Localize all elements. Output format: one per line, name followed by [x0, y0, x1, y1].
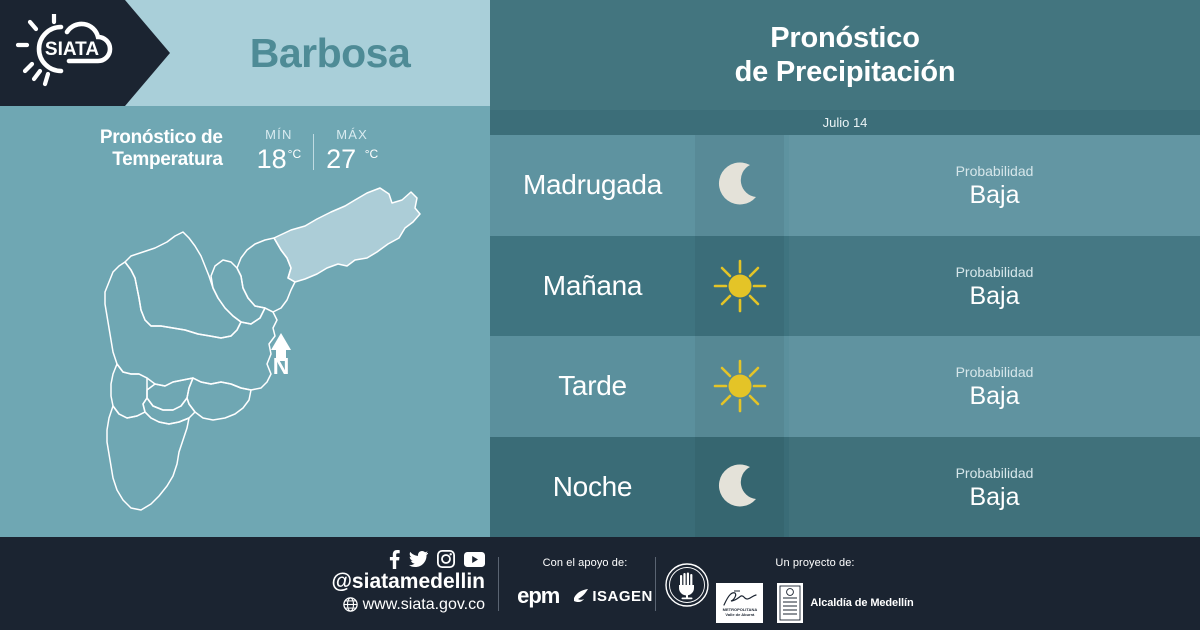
isagen-logo[interactable]: ISAGEN	[573, 588, 653, 605]
weather-icon-cell	[695, 135, 784, 236]
support-logos: epm ISAGEN	[505, 583, 665, 609]
isagen-mark-icon	[573, 589, 589, 604]
min-label: MÍN	[257, 125, 302, 145]
min-value-wrap: 18°C	[257, 145, 302, 173]
forecast-title-line2: de Precipitación	[735, 55, 956, 89]
map-region-bello	[125, 232, 241, 338]
footer-divider-2	[655, 557, 656, 611]
alcaldia-label: Alcaldía de Medellín	[810, 597, 913, 609]
forecast-header: Pronóstico de Precipitación	[490, 0, 1200, 110]
probability-value: Baja	[956, 182, 1034, 210]
area-logo-line2: Valle de Aburrá	[725, 612, 754, 617]
compass-label: N	[273, 353, 290, 379]
social-handle[interactable]: @siatamedellin	[300, 570, 485, 594]
forecast-date-label: Julio 14	[823, 115, 868, 130]
forecast-row-madrugada[interactable]: Madrugada Probabilidad Baja	[490, 135, 1200, 236]
probability-value: Baja	[956, 383, 1034, 411]
sun-icon	[712, 358, 768, 414]
probability-caption: Probabilidad	[956, 362, 1034, 383]
temperature-max: MÁX 27 °C	[314, 125, 390, 173]
sun-cloud-icon: SIATA	[14, 14, 124, 92]
max-value-wrap: 27 °C	[326, 145, 378, 173]
temperature-title-line2: Temperatura	[100, 149, 223, 171]
map-region-envigado	[187, 378, 251, 420]
precipitation-panel: Pronóstico de Precipitación Julio 14 Mad…	[490, 0, 1200, 537]
forecast-title-line1: Pronóstico	[735, 21, 956, 55]
probability-caption: Probabilidad	[956, 161, 1034, 182]
medellin-seal-icon[interactable]	[665, 563, 709, 607]
probability-value: Baja	[956, 484, 1034, 512]
forecast-row-tarde[interactable]: Tarde	[490, 336, 1200, 437]
period-label: Tarde	[558, 370, 627, 402]
period-label: Madrugada	[523, 169, 662, 201]
page-title: Barbosa	[170, 0, 490, 106]
facebook-icon[interactable]	[389, 550, 400, 569]
weather-icon-cell	[695, 236, 784, 337]
probability-caption: Probabilidad	[956, 262, 1034, 283]
forecast-rows: Madrugada Probabilidad Baja	[490, 135, 1200, 537]
siata-logo-wedge[interactable]: SIATA	[0, 0, 170, 106]
weather-icon-cell	[695, 336, 784, 437]
temperature-values: MÍN 18°C MÁX 27 °C	[245, 125, 391, 173]
period-cell: Mañana	[490, 236, 695, 337]
probability-value: Baja	[956, 283, 1034, 311]
compass-north: N	[271, 333, 291, 379]
weather-icon-cell	[695, 437, 784, 538]
map-panel: Pronóstico de Temperatura MÍN 18°C MÁX 2…	[0, 106, 490, 537]
period-label: Mañana	[543, 270, 642, 302]
probability-cell: Probabilidad Baja	[789, 236, 1200, 337]
probability-cell: Probabilidad Baja	[789, 336, 1200, 437]
project-logos: METROPOLITANA Valle de Aburrá Alcaldía d…	[700, 583, 930, 623]
left-panel: SIATA Barbosa Pronóstico de Temperatura …	[0, 0, 490, 537]
support-block: Con el apoyo de: epm ISAGEN	[505, 557, 665, 609]
alcaldia-shield-icon	[777, 583, 803, 623]
footer: @siatamedellin www.siata.gov.co Con el a…	[0, 537, 1200, 630]
youtube-icon[interactable]	[464, 552, 485, 567]
moon-icon	[712, 157, 768, 213]
max-value: 27	[326, 144, 356, 174]
map-region-copacabana	[211, 260, 265, 324]
social-icons	[300, 549, 485, 569]
alcaldia-logo-group[interactable]: Alcaldía de Medellín	[777, 583, 913, 623]
forecast-date: Julio 14	[490, 110, 1200, 135]
max-unit: °C	[365, 147, 378, 161]
period-cell: Madrugada	[490, 135, 695, 236]
max-label: MÁX	[326, 125, 378, 145]
map-region-sabaneta	[143, 398, 195, 424]
probability-caption: Probabilidad	[956, 463, 1034, 484]
sun-icon	[712, 258, 768, 314]
area-script-icon	[722, 590, 758, 607]
isagen-label: ISAGEN	[592, 588, 653, 605]
period-cell: Noche	[490, 437, 695, 538]
probability-cell: Probabilidad Baja	[789, 135, 1200, 236]
website-label: www.siata.gov.co	[363, 595, 485, 614]
min-value: 18	[257, 144, 287, 174]
project-caption: Un proyecto de:	[700, 557, 930, 569]
temperature-divider	[313, 134, 314, 170]
forecast-title: Pronóstico de Precipitación	[735, 21, 956, 89]
city-header: SIATA Barbosa	[0, 0, 490, 106]
probability-cell: Probabilidad Baja	[789, 437, 1200, 538]
siata-logo-text: SIATA	[45, 39, 99, 60]
map-region-medellin	[105, 262, 277, 390]
area-metropolitana-logo[interactable]: METROPOLITANA Valle de Aburrá	[716, 583, 763, 623]
temperature-block: Pronóstico de Temperatura MÍN 18°C MÁX 2…	[0, 118, 490, 180]
globe-icon	[343, 597, 358, 612]
probability-box: Probabilidad Baja	[956, 262, 1034, 311]
valle-de-aburra-map[interactable]: N	[55, 178, 455, 530]
map-region-barbosa	[274, 188, 420, 282]
min-unit: °C	[288, 147, 301, 161]
instagram-icon[interactable]	[437, 550, 455, 568]
temperature-title: Pronóstico de Temperatura	[100, 127, 223, 171]
moon-icon	[712, 459, 768, 515]
forecast-row-noche[interactable]: Noche Probabilidad Baja	[490, 437, 1200, 538]
website-row[interactable]: www.siata.gov.co	[300, 595, 485, 614]
epm-logo[interactable]: epm	[517, 583, 559, 609]
forecast-row-manana[interactable]: Mañana	[490, 236, 1200, 337]
map-region-caldas	[107, 406, 189, 510]
period-cell: Tarde	[490, 336, 695, 437]
support-caption: Con el apoyo de:	[505, 557, 665, 569]
map-svg: N	[55, 178, 455, 530]
footer-divider-1	[498, 557, 499, 611]
twitter-icon[interactable]	[409, 551, 428, 567]
forecast-infographic: SIATA Barbosa Pronóstico de Temperatura …	[0, 0, 1200, 630]
probability-box: Probabilidad Baja	[956, 463, 1034, 512]
period-label: Noche	[553, 471, 632, 503]
probability-box: Probabilidad Baja	[956, 161, 1034, 210]
probability-box: Probabilidad Baja	[956, 362, 1034, 411]
project-block: Un proyecto de: METROPOLITANA Valle de A…	[700, 557, 930, 623]
social-block: @siatamedellin www.siata.gov.co	[300, 549, 485, 614]
temperature-title-line1: Pronóstico de	[100, 127, 223, 149]
temperature-min: MÍN 18°C	[245, 125, 314, 173]
